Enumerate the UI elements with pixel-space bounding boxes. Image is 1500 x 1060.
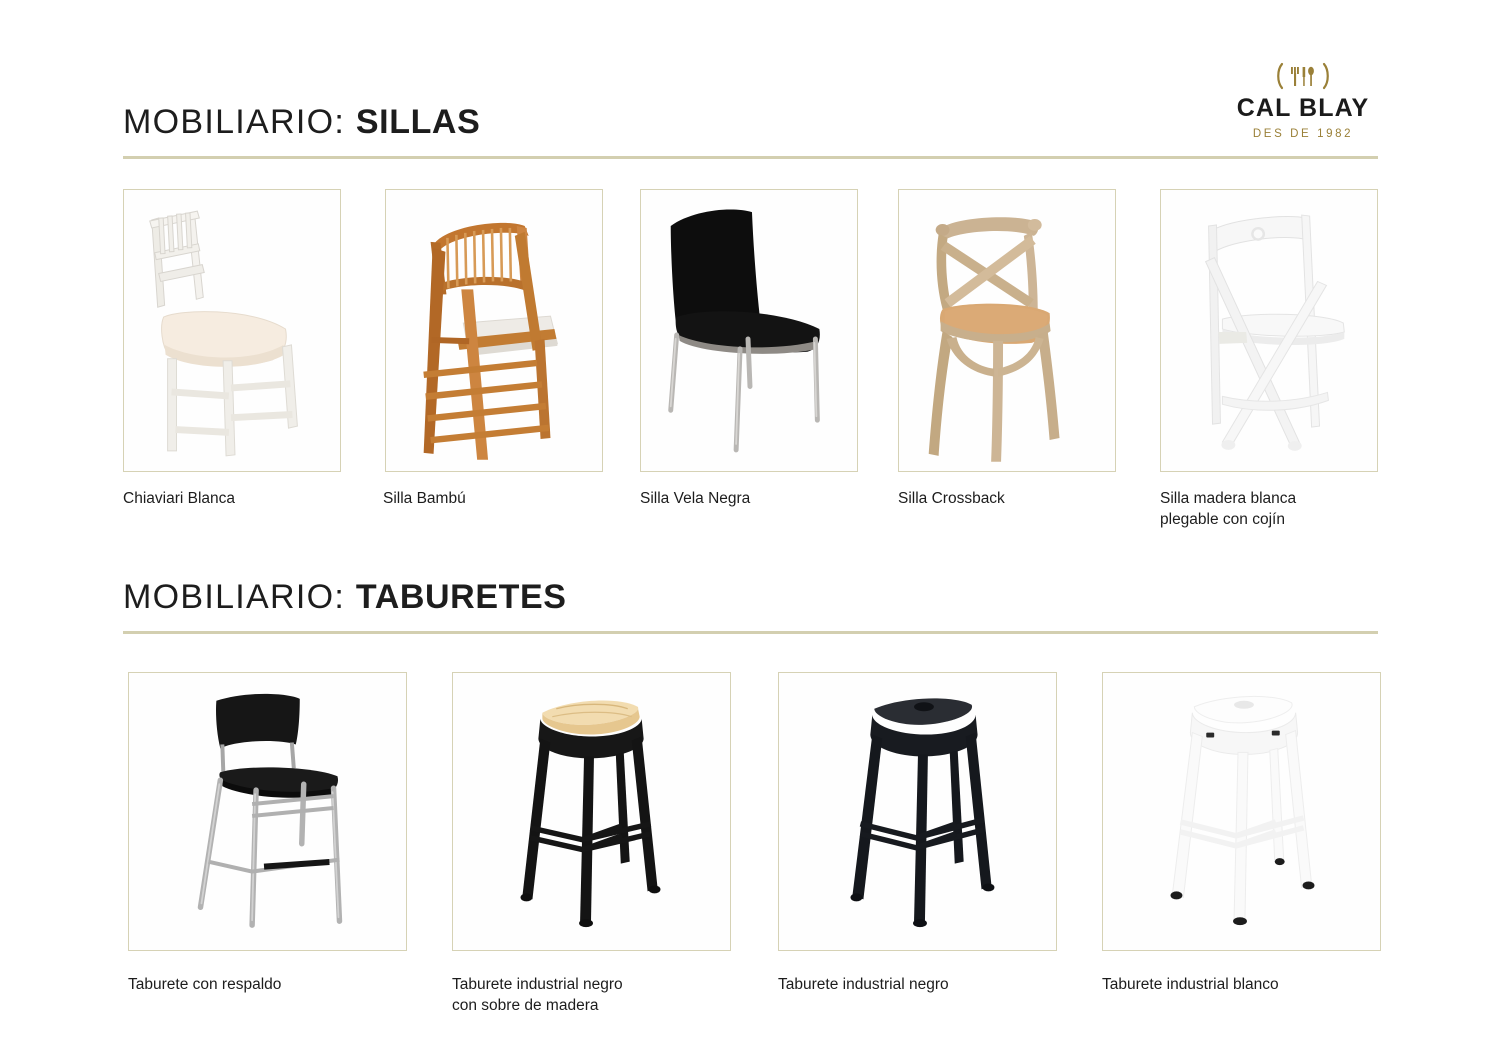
product-label-taburete-con-respaldo: Taburete con respaldo <box>128 974 378 995</box>
product-label-silla-bambu: Silla Bambú <box>383 488 593 509</box>
bamboo-folding-chair-image <box>386 190 602 471</box>
product-card-chiavari-blanca[interactable] <box>123 189 341 472</box>
divider-taburetes <box>123 631 1378 634</box>
product-card-silla-crossback[interactable] <box>898 189 1116 472</box>
product-label-taburete-industrial-madera: Taburete industrial negro con sobre de m… <box>452 974 702 1016</box>
product-card-silla-vela-negra[interactable] <box>640 189 858 472</box>
brand-name: CAL BLAY <box>1228 94 1378 123</box>
industrial-stool-white-image <box>1103 673 1380 950</box>
section-title-text-2: TABURETES <box>356 578 567 616</box>
industrial-stool-wood-top-image <box>453 673 730 950</box>
product-label-chiaviari-blanca: Chiaviari Blanca <box>123 488 333 509</box>
chiavari-white-chair-image <box>124 190 340 471</box>
product-card-taburete-industrial-negro[interactable] <box>778 672 1057 951</box>
wood-crossback-chair-image <box>899 190 1115 471</box>
product-label-taburete-industrial-blanco: Taburete industrial blanco <box>1102 974 1352 995</box>
product-label-silla-crossback: Silla Crossback <box>898 488 1108 509</box>
product-label-silla-madera-blanca-plegable: Silla madera blanca plegable con cojín <box>1160 488 1380 530</box>
section-prefix: MOBILIARIO: <box>123 103 356 141</box>
divider-sillas <box>123 156 1378 159</box>
product-label-silla-vela-negra: Silla Vela Negra <box>640 488 850 509</box>
black-stool-with-back-image <box>129 673 406 950</box>
product-card-taburete-industrial-blanco[interactable] <box>1102 672 1381 951</box>
product-card-silla-madera-blanca-plegable[interactable] <box>1160 189 1378 472</box>
brand-logo: CAL BLAY DES DE 1982 <box>1228 60 1378 140</box>
product-label-taburete-industrial-negro: Taburete industrial negro <box>778 974 1028 995</box>
product-card-silla-bambu[interactable] <box>385 189 603 472</box>
white-folding-chair-image <box>1161 190 1377 471</box>
black-vela-chair-image <box>641 190 857 471</box>
cutlery-icon <box>1228 60 1378 92</box>
brand-tagline: DES DE 1982 <box>1228 128 1378 140</box>
page-title-sillas: MOBILIARIO: SILLAS <box>123 103 480 142</box>
section-title-text: SILLAS <box>356 103 481 141</box>
product-card-taburete-industrial-madera[interactable] <box>452 672 731 951</box>
industrial-stool-black-image <box>779 673 1056 950</box>
page-title-taburetes: MOBILIARIO: TABURETES <box>123 578 567 617</box>
section-prefix-2: MOBILIARIO: <box>123 578 356 616</box>
product-card-taburete-con-respaldo[interactable] <box>128 672 407 951</box>
